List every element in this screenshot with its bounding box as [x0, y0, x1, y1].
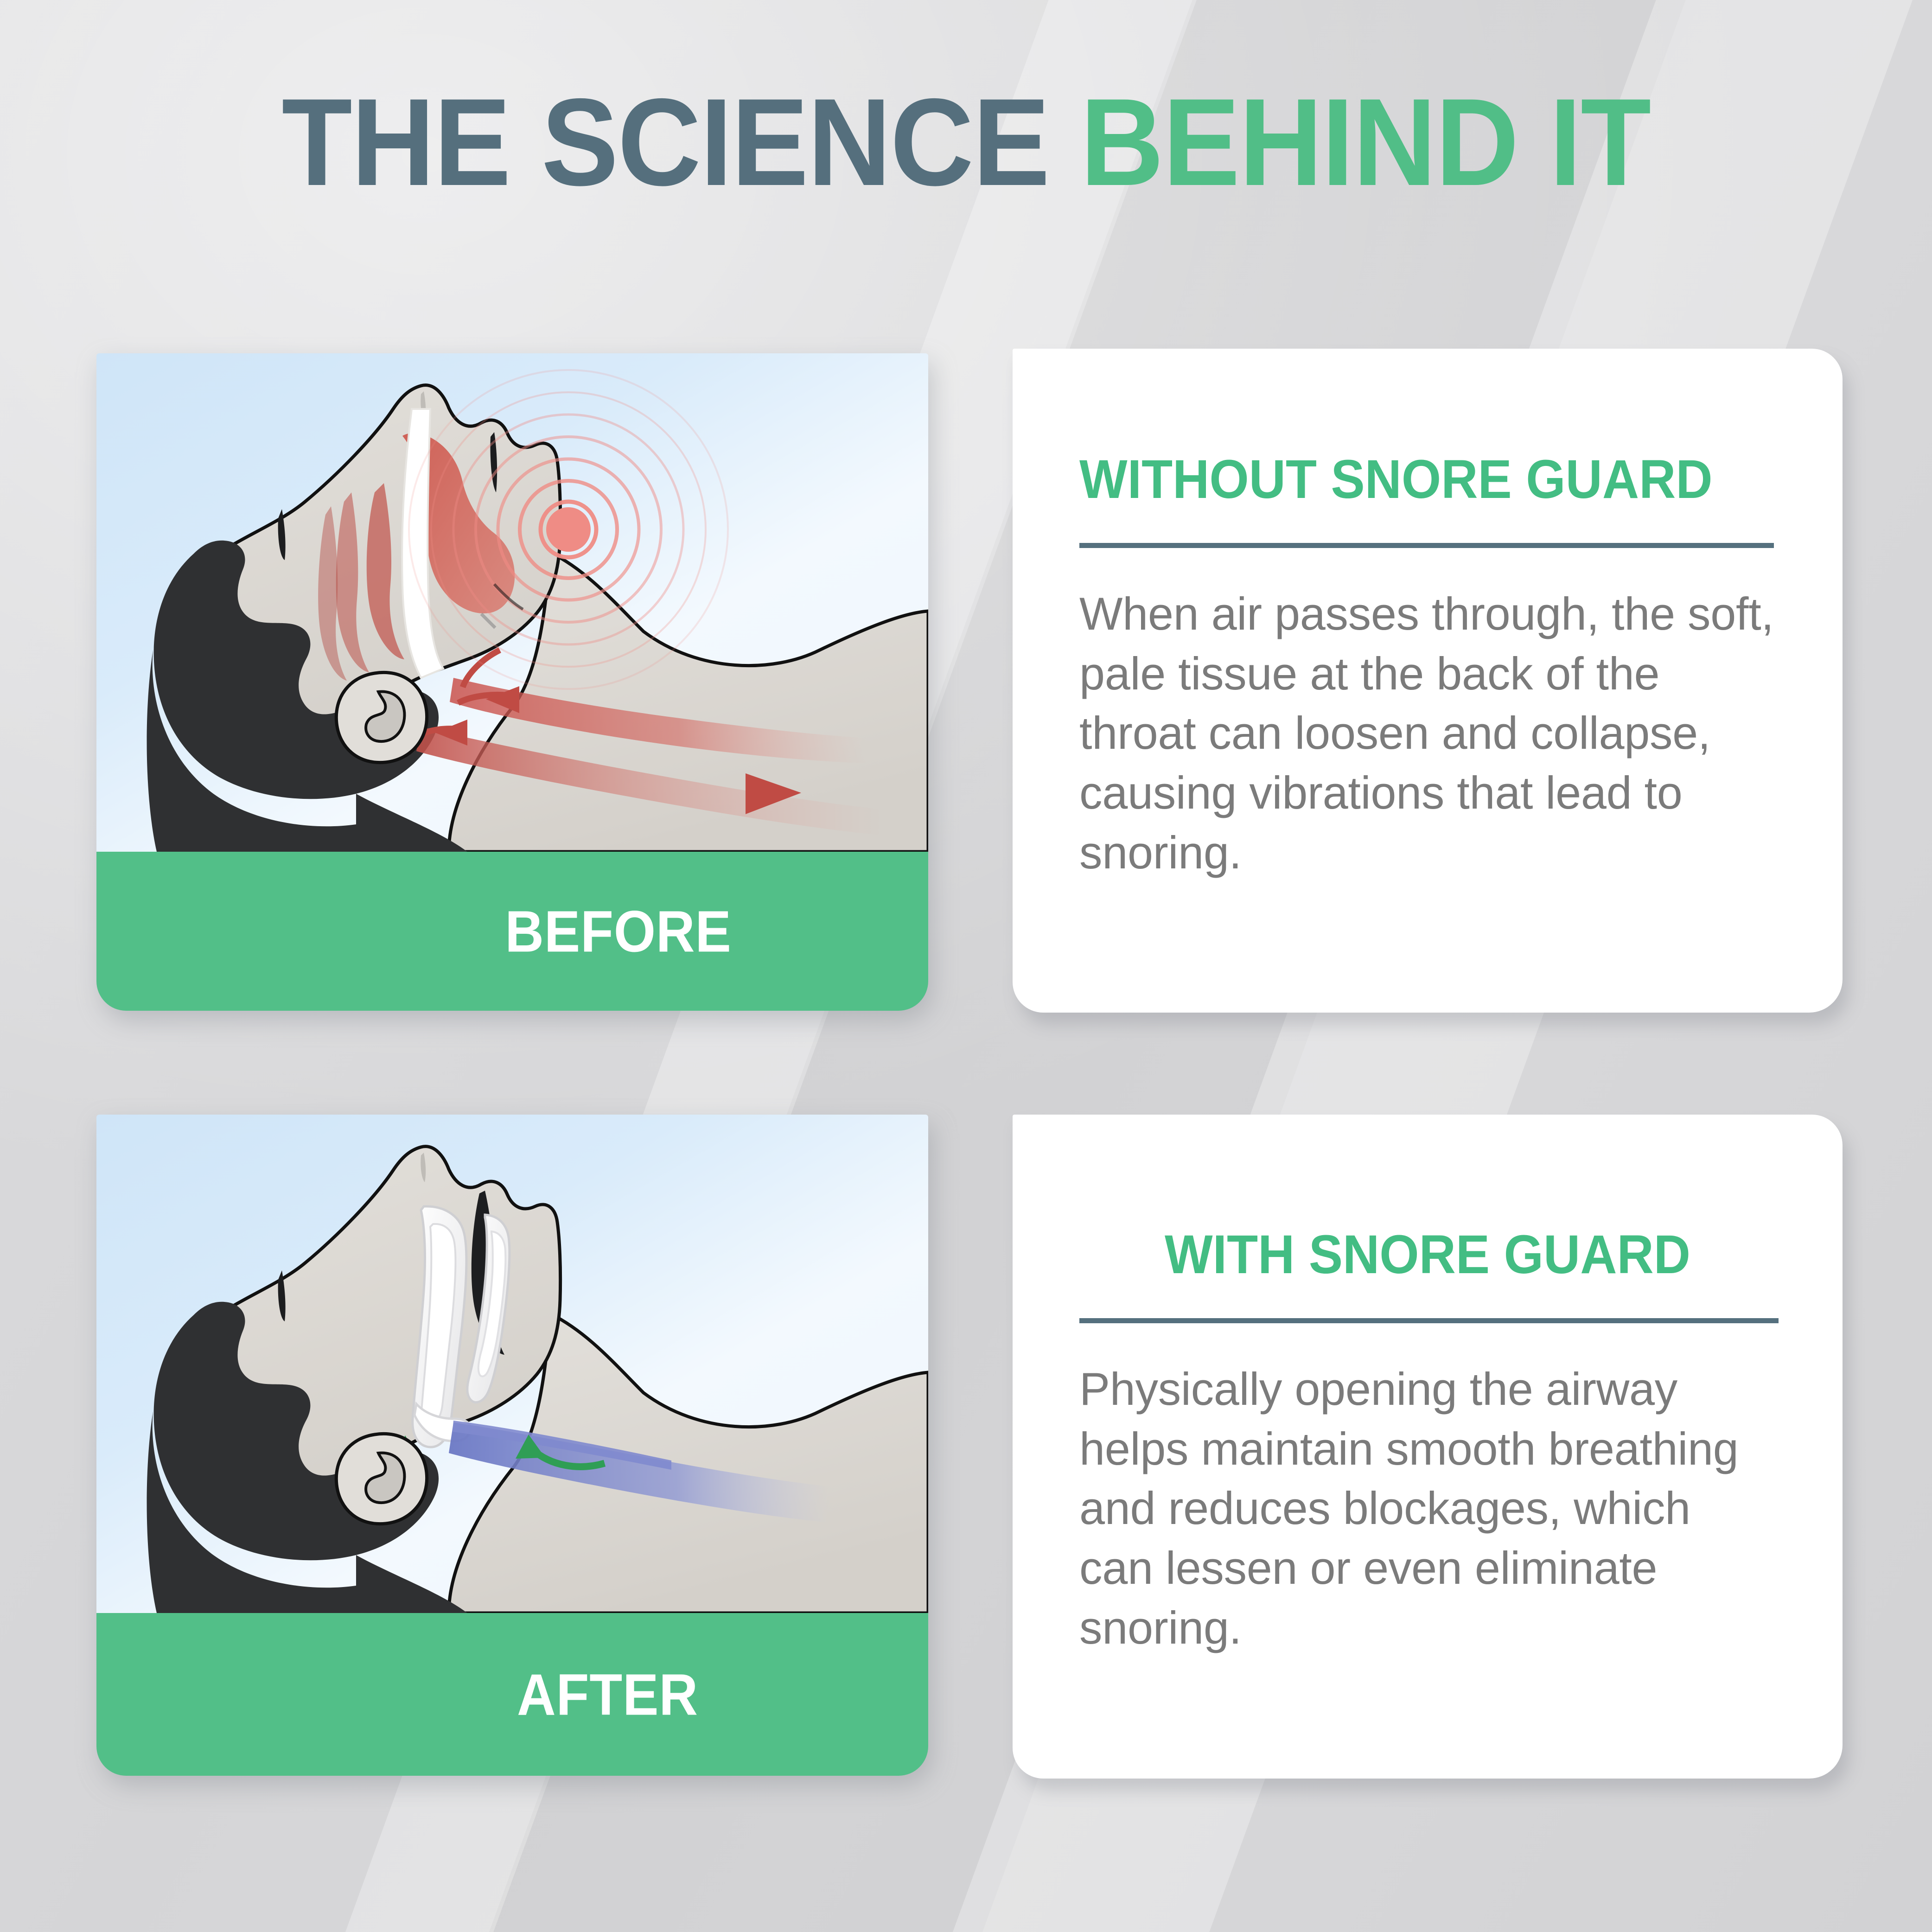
without-snore-guard-heading: WITHOUT SNORE GUARD [1079, 451, 1727, 509]
after-illustration-panel: AFTER [96, 1115, 928, 1776]
before-label-footer: BEFORE [96, 852, 928, 1011]
page-title: THE SCIENCE BEHIND IT [68, 80, 1864, 204]
after-label-footer: AFTER [96, 1613, 928, 1776]
card-divider [1079, 1318, 1779, 1323]
with-snore-guard-heading: WITH SNORE GUARD [1104, 1226, 1752, 1284]
vibration-center [546, 507, 591, 552]
ear [336, 1434, 427, 1524]
before-illustration-panel: BEFORE [96, 353, 928, 1011]
before-illustration-image [96, 353, 928, 852]
after-anatomy-diagram [96, 1115, 928, 1613]
after-illustration-image [96, 1115, 928, 1613]
with-snore-guard-body: Physically opening the airway helps main… [1079, 1359, 1776, 1658]
without-snore-guard-card: WITHOUT SNORE GUARD When air passes thro… [1013, 349, 1843, 1013]
card-divider [1079, 543, 1774, 548]
with-snore-guard-card: WITH SNORE GUARD Physically opening the … [1013, 1115, 1843, 1779]
before-anatomy-diagram [96, 353, 928, 852]
page-title-part-one: THE SCIENCE [281, 72, 1080, 211]
without-snore-guard-body: When air passes through, the soft, pale … [1079, 584, 1776, 882]
after-label: AFTER [517, 1661, 698, 1728]
before-label: BEFORE [505, 898, 732, 965]
ear [336, 672, 427, 762]
page-title-part-two: BEHIND IT [1080, 72, 1650, 211]
